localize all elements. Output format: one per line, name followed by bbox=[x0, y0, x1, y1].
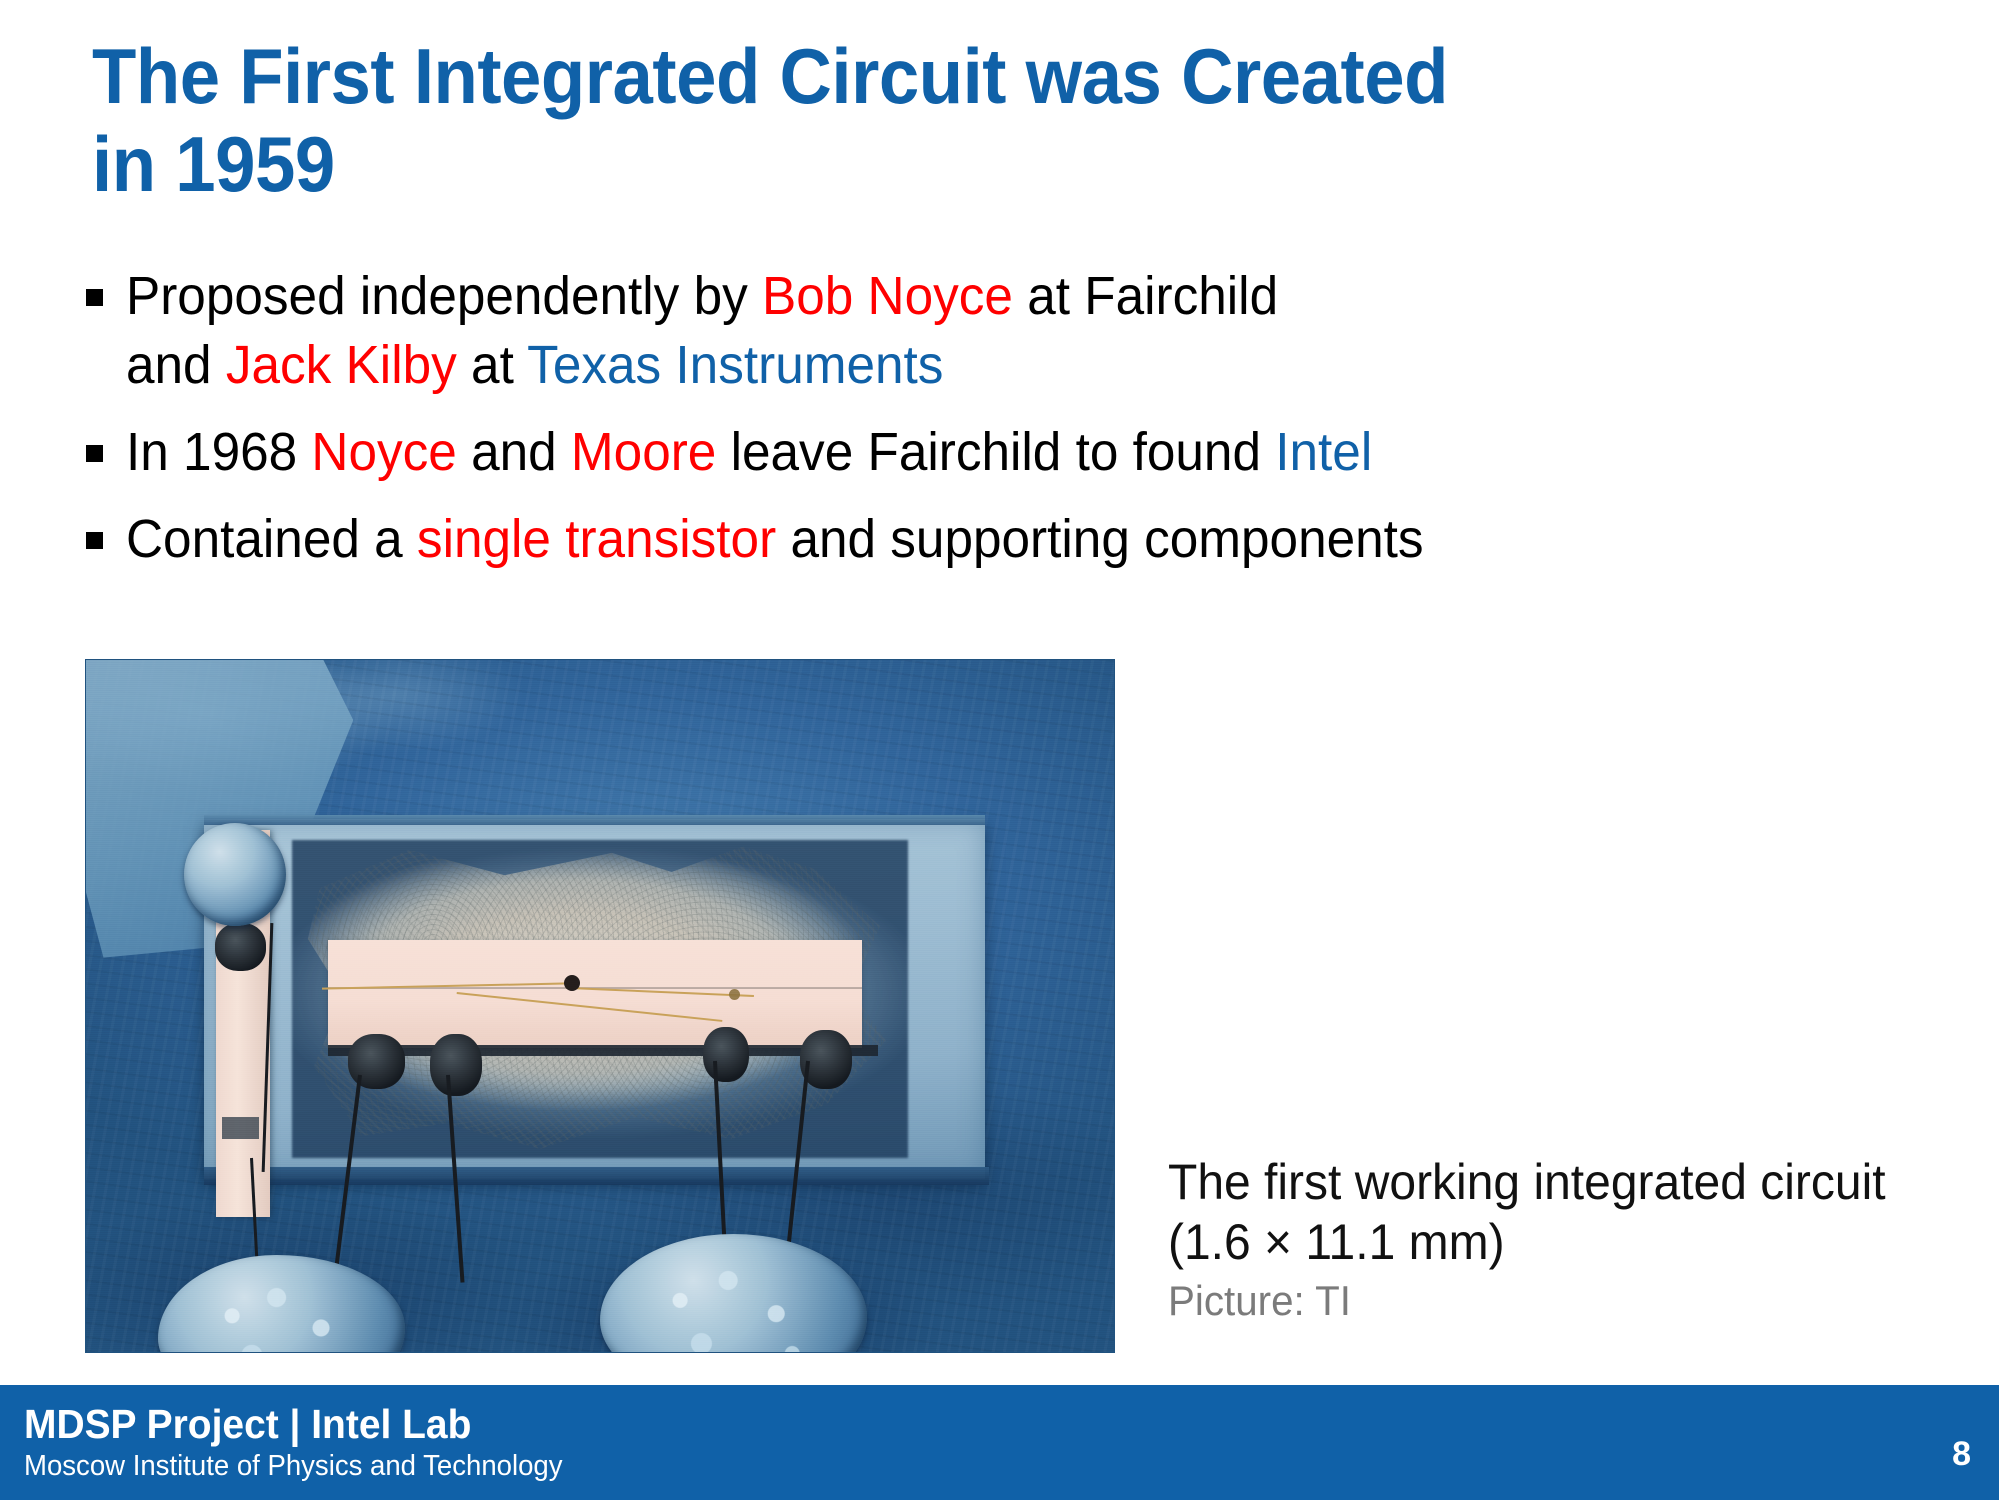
bullet-seg: and supporting components bbox=[776, 509, 1423, 569]
bullet-seg-texas-instruments: Texas Instruments bbox=[527, 335, 943, 395]
bullet-seg: In 1968 bbox=[126, 422, 311, 482]
photo-film-grain bbox=[86, 660, 1114, 1352]
photo-artwork bbox=[86, 660, 1114, 1352]
bullet-seg: leave Fairchild to found bbox=[716, 422, 1275, 482]
bullet-text-1: Proposed independently by Bob Noyce at F… bbox=[126, 262, 1855, 400]
bullet-seg: and bbox=[126, 335, 226, 395]
bullet-seg: and bbox=[457, 422, 571, 482]
bullet-seg-kilby: Jack Kilby bbox=[226, 335, 457, 395]
caption-credit: Picture: TI bbox=[1168, 1276, 1898, 1326]
bullet-seg-noyce: Bob Noyce bbox=[762, 266, 1013, 326]
bullet-seg-single-transistor: single transistor bbox=[417, 509, 776, 569]
list-item: In 1968 Noyce and Moore leave Fairchild … bbox=[86, 418, 1946, 487]
bullet-text-3: Contained a single transistor and suppor… bbox=[126, 505, 1855, 574]
slide-footer: MDSP Project | Intel Lab Moscow Institut… bbox=[0, 1385, 1999, 1500]
bullet-seg-noyce: Noyce bbox=[311, 422, 456, 482]
bullet-seg-intel: Intel bbox=[1275, 422, 1372, 482]
slide: The First Integrated Circuit was Created… bbox=[0, 0, 1999, 1500]
bullet-seg: Contained a bbox=[126, 509, 417, 569]
caption-text: The first working integrated circuit (1.… bbox=[1168, 1152, 1898, 1272]
bullet-seg: at Fairchild bbox=[1013, 266, 1278, 326]
footer-subtitle: Moscow Institute of Physics and Technolo… bbox=[24, 1449, 563, 1483]
bullet-seg: Proposed independently by bbox=[126, 266, 762, 326]
bullet-list: Proposed independently by Bob Noyce at F… bbox=[86, 262, 1946, 592]
figure-caption: The first working integrated circuit (1.… bbox=[1168, 1152, 1928, 1326]
first-ic-photo bbox=[85, 659, 1115, 1353]
square-bullet-icon bbox=[86, 532, 103, 549]
page-number: 8 bbox=[1952, 1435, 1971, 1474]
bullet-seg-moore: Moore bbox=[571, 422, 716, 482]
list-item: Contained a single transistor and suppor… bbox=[86, 505, 1946, 574]
bullet-seg: at bbox=[457, 335, 527, 395]
bullet-text-2: In 1968 Noyce and Moore leave Fairchild … bbox=[126, 418, 1855, 487]
footer-title: MDSP Project | Intel Lab bbox=[24, 1401, 471, 1447]
page-title: The First Integrated Circuit was Created… bbox=[92, 32, 1673, 208]
square-bullet-icon bbox=[86, 445, 103, 462]
square-bullet-icon bbox=[86, 289, 103, 306]
list-item: Proposed independently by Bob Noyce at F… bbox=[86, 262, 1946, 400]
